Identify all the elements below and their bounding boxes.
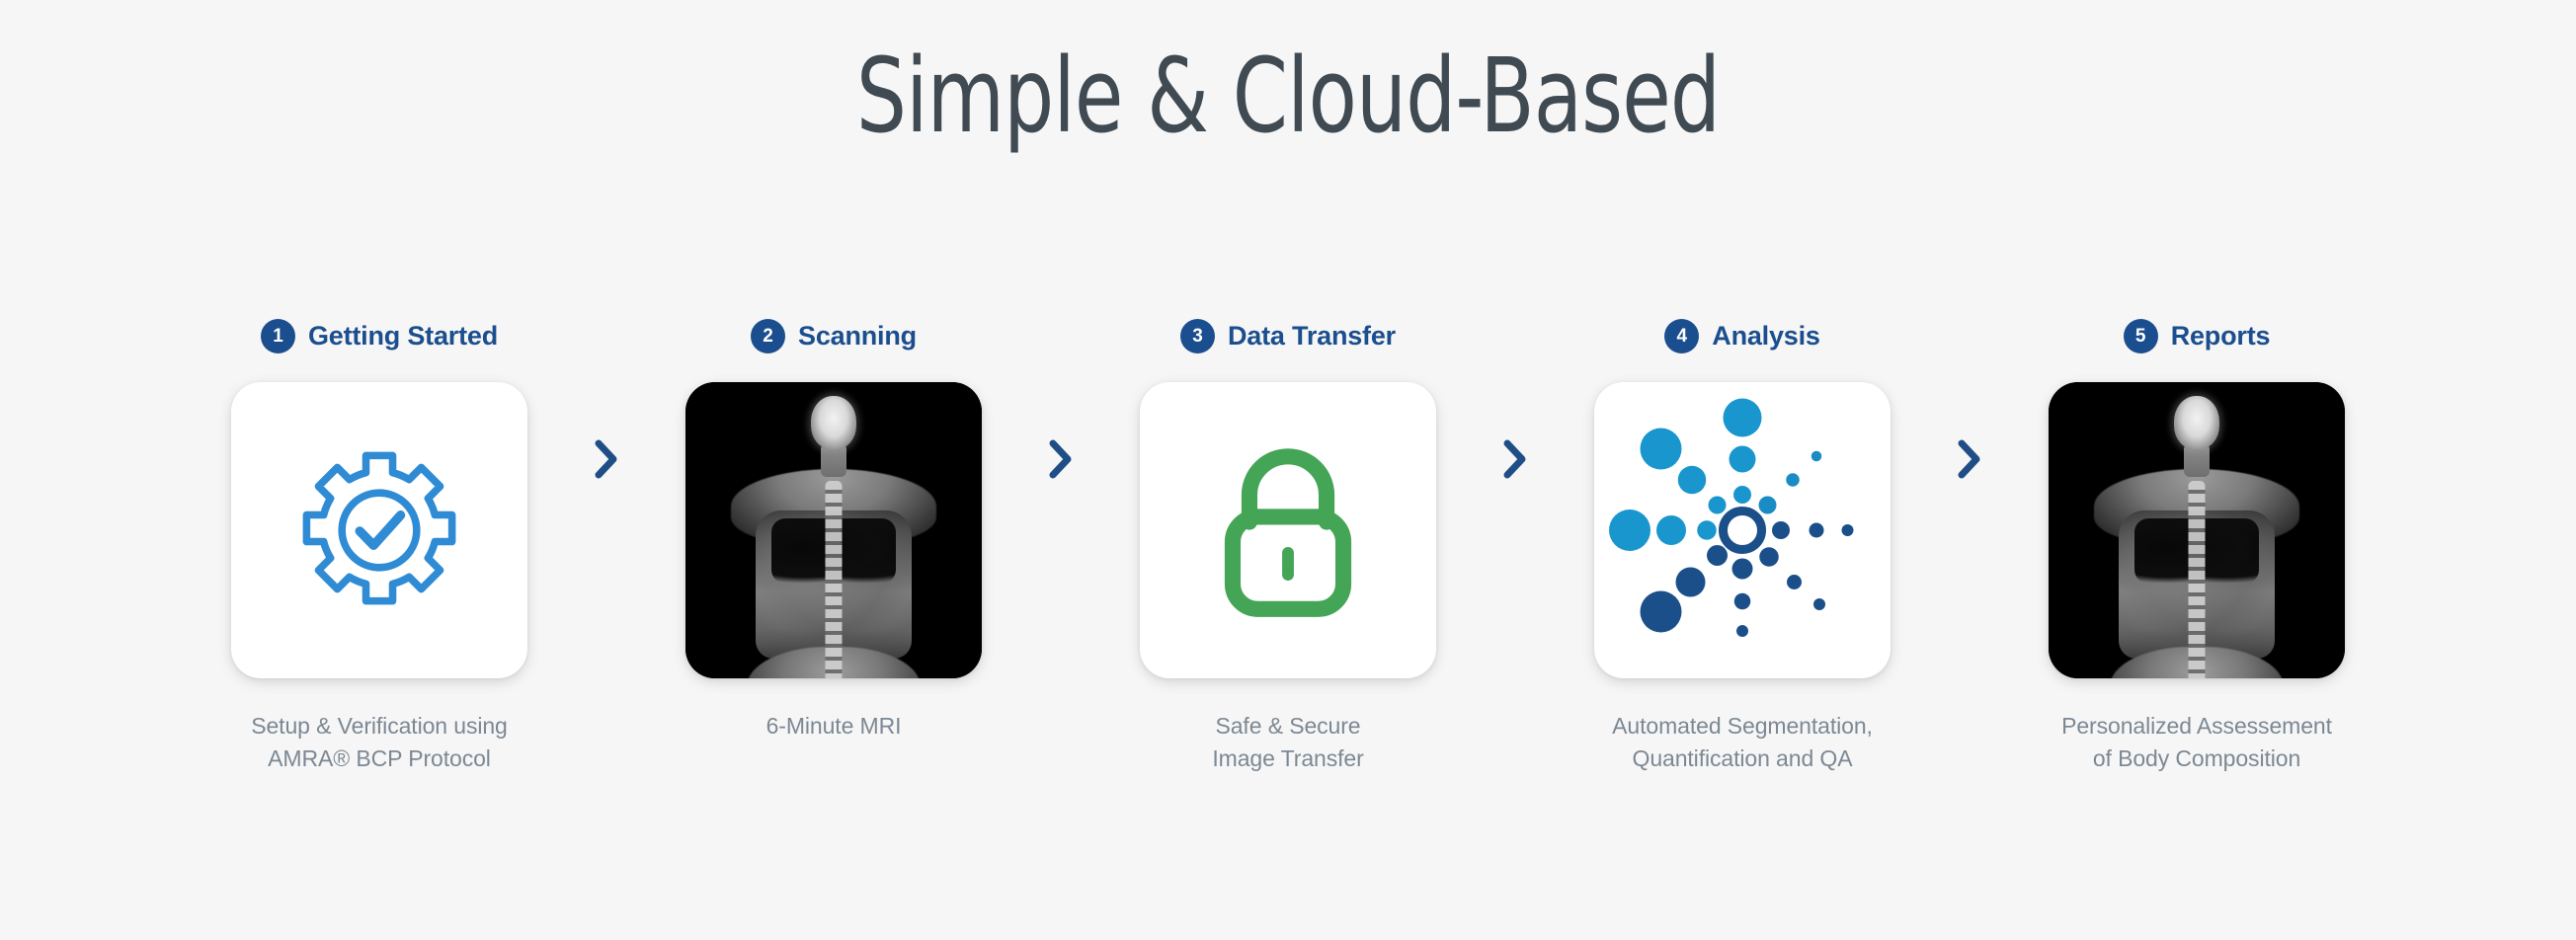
- padlock-icon: [1204, 441, 1372, 619]
- step-card-scanning[interactable]: [685, 382, 982, 678]
- step-card-analysis[interactable]: [1594, 382, 1891, 678]
- caption-line: Image Transfer: [1212, 743, 1363, 775]
- step-getting-started: 1 Getting Started Setup & Verification u…: [182, 314, 577, 776]
- chevron-right-icon: [1502, 438, 1528, 480]
- step-number-badge: 4: [1664, 319, 1699, 353]
- step-label: Analysis: [1712, 321, 1819, 352]
- step-data-transfer: 3 Data Transfer Safe & Secure Image Tran…: [1090, 314, 1486, 776]
- step-header: 3 Data Transfer: [1180, 314, 1396, 357]
- segmented-mri-image: [2049, 382, 2345, 678]
- caption-line: 6-Minute MRI: [766, 710, 902, 743]
- caption-line: Quantification and QA: [1612, 743, 1873, 775]
- page-title: Simple & Cloud-Based: [181, 39, 2396, 152]
- chevron-right-icon: [1048, 438, 1074, 480]
- caption-line: Personalized Assessement: [2061, 710, 2332, 743]
- infographic-page: Simple & Cloud-Based 1 Getting Started S…: [0, 0, 2576, 940]
- process-steps-row: 1 Getting Started Setup & Verification u…: [0, 314, 2576, 776]
- caption-line: Automated Segmentation,: [1612, 710, 1873, 743]
- step-number-badge: 3: [1180, 319, 1215, 353]
- step-caption: 6-Minute MRI: [766, 710, 902, 743]
- step-reports: 5 Reports: [1999, 314, 2394, 776]
- arrow-1-to-2: [577, 438, 636, 480]
- step-header: 2 Scanning: [751, 314, 917, 357]
- step-label: Getting Started: [308, 321, 498, 352]
- arrow-4-to-5: [1940, 438, 1999, 480]
- step-caption: Safe & Secure Image Transfer: [1212, 710, 1363, 776]
- gear-check-icon: [290, 441, 468, 619]
- step-caption: Personalized Assessement of Body Composi…: [2061, 710, 2332, 776]
- step-label: Scanning: [798, 321, 917, 352]
- step-number-badge: 5: [2124, 319, 2158, 353]
- step-card-getting-started[interactable]: [231, 382, 527, 678]
- step-caption: Automated Segmentation, Quantification a…: [1612, 710, 1873, 776]
- step-number-badge: 2: [751, 319, 785, 353]
- step-card-data-transfer[interactable]: [1140, 382, 1436, 678]
- chevron-right-icon: [594, 438, 619, 480]
- caption-line: of Body Composition: [2061, 743, 2332, 775]
- step-scanning: 2 Scanning: [636, 314, 1031, 743]
- step-caption: Setup & Verification using AMRA® BCP Pro…: [251, 710, 508, 776]
- caption-line: Safe & Secure: [1212, 710, 1363, 743]
- step-header: 4 Analysis: [1664, 314, 1819, 357]
- step-card-reports[interactable]: [2049, 382, 2345, 678]
- mri-scan-image: [685, 382, 982, 678]
- radial-dot-burst-icon: [1594, 382, 1891, 678]
- caption-line: AMRA® BCP Protocol: [251, 743, 508, 775]
- arrow-3-to-4: [1486, 438, 1545, 480]
- step-header: 5 Reports: [2124, 314, 2271, 357]
- chevron-right-icon: [1957, 438, 1982, 480]
- step-number-badge: 1: [261, 319, 295, 353]
- step-analysis: 4 Analysis: [1545, 314, 1940, 776]
- step-header: 1 Getting Started: [261, 314, 498, 357]
- step-label: Data Transfer: [1228, 321, 1396, 352]
- step-label: Reports: [2171, 321, 2271, 352]
- caption-line: Setup & Verification using: [251, 710, 508, 743]
- arrow-2-to-3: [1031, 438, 1090, 480]
